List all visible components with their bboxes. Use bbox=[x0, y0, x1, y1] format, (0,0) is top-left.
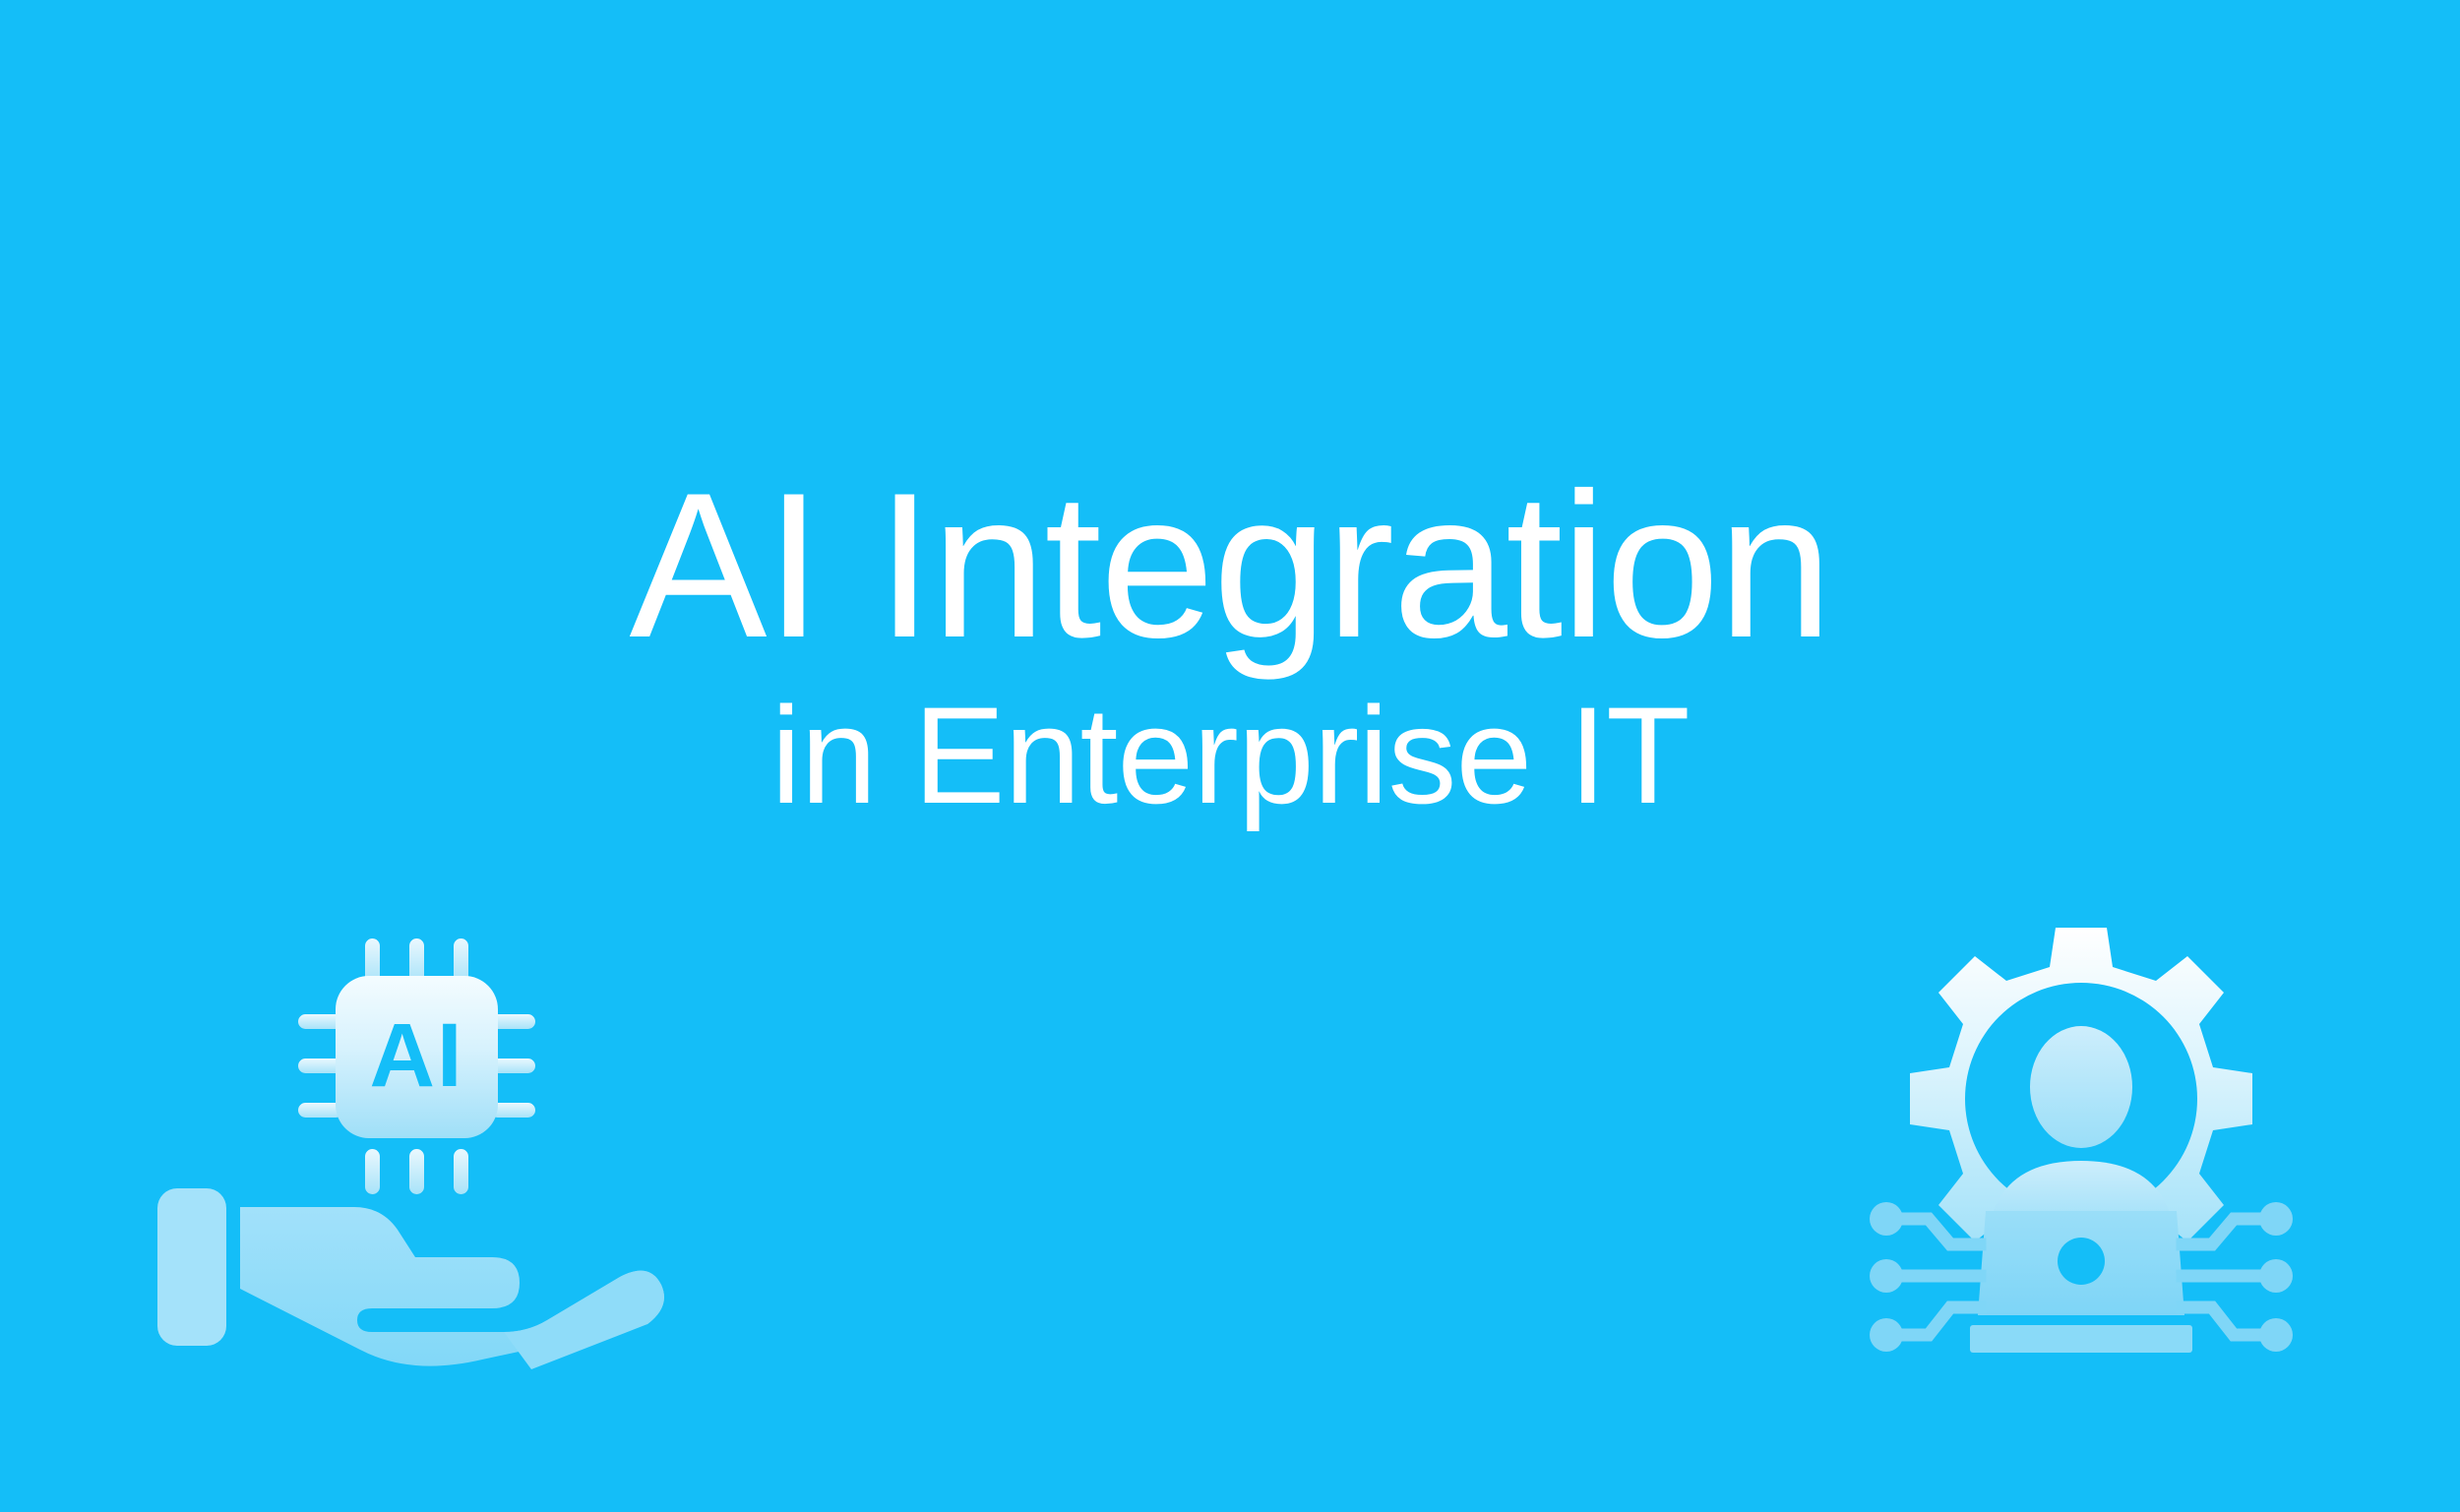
hand-cuff bbox=[157, 1188, 226, 1346]
hand-thumb bbox=[504, 1271, 664, 1369]
laptop-camera-dot bbox=[2058, 1238, 2105, 1285]
title-block: AI Integration in Enterprise IT bbox=[0, 462, 2460, 824]
page-subtitle: in Enterprise IT bbox=[0, 687, 2460, 824]
circuit-nodes-right bbox=[2259, 1202, 2293, 1352]
circuit-traces-right bbox=[2183, 1219, 2262, 1335]
circuit-nodes-left bbox=[1870, 1202, 1903, 1352]
hand-holding-ai-chip-icon: AI bbox=[157, 915, 669, 1377]
circuit-traces-left bbox=[1900, 1219, 1980, 1335]
chip-ai-label: AI bbox=[370, 1005, 464, 1106]
slide-canvas: AI Integration in Enterprise IT bbox=[0, 0, 2460, 1512]
person-head bbox=[2030, 1026, 2132, 1148]
chip-pins-bottom bbox=[365, 1149, 468, 1194]
page-title: AI Integration bbox=[0, 462, 2460, 669]
gear-person-laptop-circuit-icon bbox=[1860, 910, 2303, 1362]
laptop-base bbox=[1970, 1325, 2192, 1353]
